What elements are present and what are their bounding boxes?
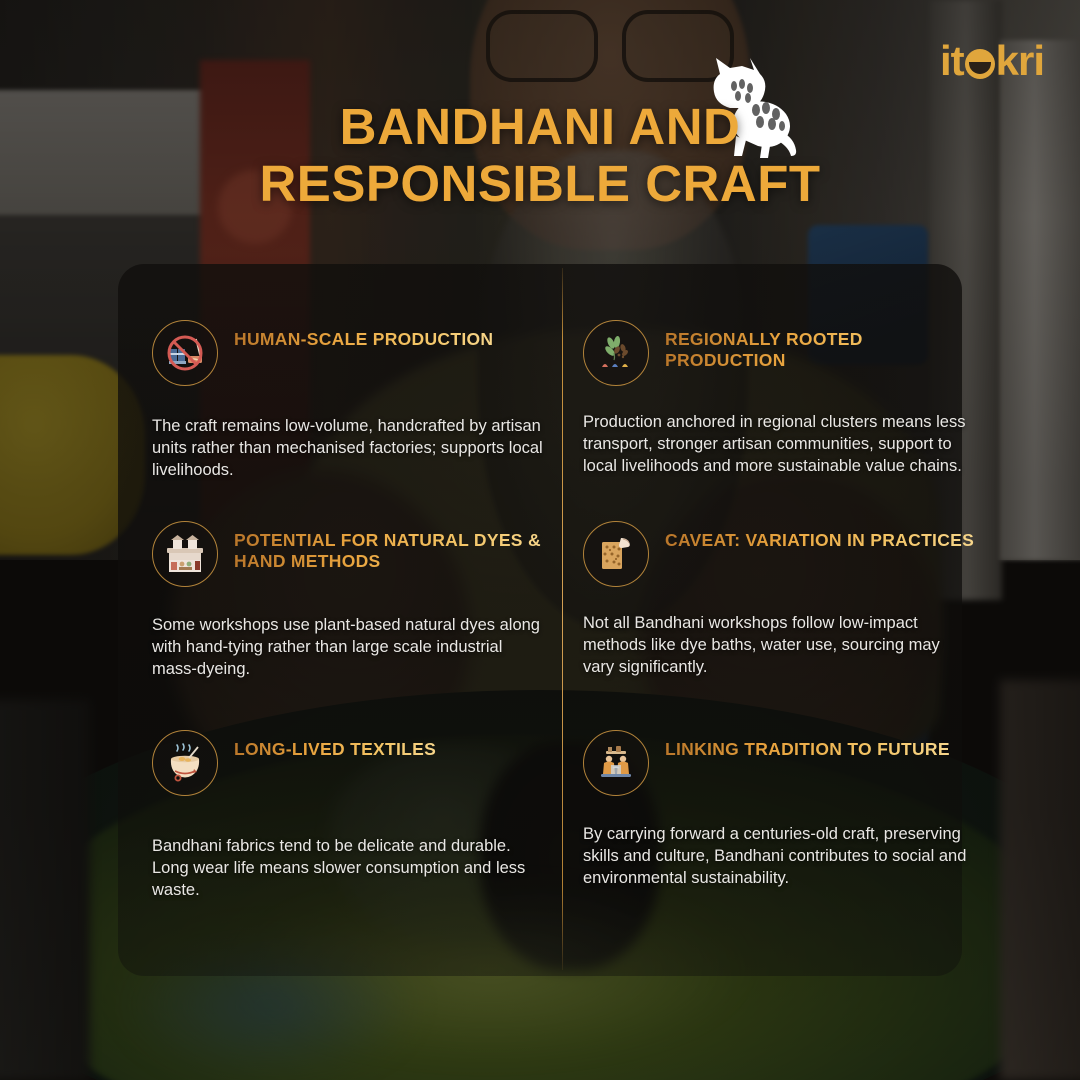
card-header: LONG-LIVED TEXTILES: [152, 730, 544, 796]
steaming-dye-pot-icon: [152, 730, 218, 796]
card-header: HUMAN-SCALE PRODUCTION: [152, 320, 544, 386]
card-body: By carrying forward a centuries-old craf…: [583, 824, 975, 889]
title-line-2: RESPONSIBLE CRAFT: [0, 155, 1080, 212]
logo-text-part-2: kri: [996, 40, 1044, 82]
infographic-frame: itkri BANDHANI AND RESPONSIBLE CRAFT: [0, 0, 1080, 1080]
title-line-1: BANDHANI AND: [0, 98, 1080, 155]
card-body: Some workshops use plant-based natural d…: [152, 615, 544, 680]
natural-dye-plants-icon: [583, 320, 649, 386]
card-body: Bandhani fabrics tend to be delicate and…: [152, 836, 544, 901]
card-linking-tradition-to-future[interactable]: LINKING TRADITION TO FUTURE By carrying …: [583, 730, 975, 889]
column-divider: [562, 268, 563, 970]
card-regionally-rooted-production[interactable]: REGIONALLY ROOTED PRODUCTION Production …: [583, 320, 975, 477]
card-title: POTENTIAL FOR NATURAL DYES & HAND METHOD…: [234, 521, 544, 573]
card-title: LONG-LIVED TEXTILES: [234, 730, 436, 760]
card-natural-dyes-hand-methods[interactable]: POTENTIAL FOR NATURAL DYES & HAND METHOD…: [152, 521, 544, 680]
card-header: REGIONALLY ROOTED PRODUCTION: [583, 320, 975, 386]
card-title: HUMAN-SCALE PRODUCTION: [234, 320, 493, 350]
card-title: LINKING TRADITION TO FUTURE: [665, 730, 950, 760]
two-artisans-weaving-icon: [583, 730, 649, 796]
card-long-lived-textiles[interactable]: LONG-LIVED TEXTILES Bandhani fabrics ten…: [152, 730, 544, 901]
no-factory-icon: [152, 320, 218, 386]
card-body: The craft remains low-volume, handcrafte…: [152, 416, 544, 481]
hand-holding-fabric-swatch-icon: [583, 521, 649, 587]
logo-circle-o-icon: [965, 49, 995, 79]
card-header: LINKING TRADITION TO FUTURE: [583, 730, 975, 796]
logo-text-part-1: it: [940, 40, 964, 82]
card-body: Not all Bandhani workshops follow low-im…: [583, 613, 975, 678]
card-body: Production anchored in regional clusters…: [583, 412, 975, 477]
card-title: REGIONALLY ROOTED PRODUCTION: [665, 320, 975, 372]
card-caveat-variation-in-practices[interactable]: CAVEAT: VARIATION IN PRACTICES Not all B…: [583, 521, 975, 678]
card-header: POTENTIAL FOR NATURAL DYES & HAND METHOD…: [152, 521, 544, 587]
page-title: BANDHANI AND RESPONSIBLE CRAFT: [0, 98, 1080, 212]
itokri-logo[interactable]: itkri: [940, 40, 1044, 82]
card-title: CAVEAT: VARIATION IN PRACTICES: [665, 521, 974, 551]
artisan-workshop-building-icon: [152, 521, 218, 587]
card-header: CAVEAT: VARIATION IN PRACTICES: [583, 521, 975, 587]
card-human-scale-production[interactable]: HUMAN-SCALE PRODUCTION The craft remains…: [152, 320, 544, 481]
